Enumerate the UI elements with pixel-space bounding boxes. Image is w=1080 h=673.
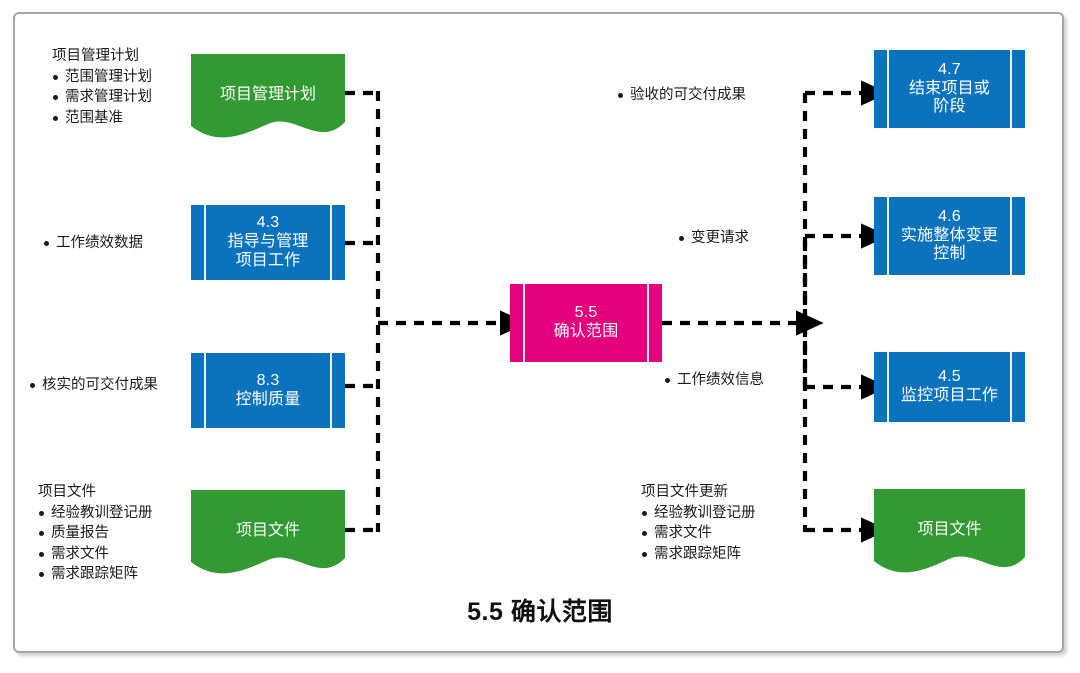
output-text-block-project-documents-updates: 项目文件更新 经验教训登记册 需求文件 需求跟踪矩阵 bbox=[641, 482, 756, 564]
process-node-4-3[interactable]: 4.3指导与管理 项目工作 bbox=[191, 205, 345, 280]
process-number: 8.3 bbox=[257, 372, 280, 389]
list-item: 范围管理计划 bbox=[52, 67, 152, 88]
process-label: 5.5确认范围 bbox=[538, 304, 635, 342]
process-rule-right bbox=[1010, 50, 1012, 128]
output-bullet-list: 变更请求 bbox=[678, 228, 749, 249]
process-name: 确认范围 bbox=[554, 323, 619, 340]
process-name: 控制质量 bbox=[236, 391, 301, 408]
input-text-block-verified-deliverables: 核实的可交付成果 bbox=[29, 375, 158, 396]
diagram-caption: 5.5 确认范围 bbox=[0, 592, 1080, 628]
document-label: 项目文件 bbox=[191, 490, 345, 540]
list-item: 范围基准 bbox=[52, 108, 152, 129]
process-rule-right bbox=[330, 353, 332, 428]
process-rule-left bbox=[887, 50, 889, 128]
list-item: 验收的可交付成果 bbox=[617, 85, 746, 106]
list-item: 需求跟踪矩阵 bbox=[641, 544, 756, 565]
process-label: 4.3指导与管理 项目工作 bbox=[211, 214, 324, 271]
document-node-project-documents-right[interactable]: 项目文件 bbox=[874, 489, 1025, 575]
input-bullet-list: 核实的可交付成果 bbox=[29, 375, 158, 396]
diagram-canvas: 项目管理计划 范围管理计划 需求管理计划 范围基准 工作绩效数据 核实的可交付成… bbox=[0, 0, 1080, 673]
list-item: 经验教训登记册 bbox=[38, 503, 153, 524]
input-bullet-list: 范围管理计划 需求管理计划 范围基准 bbox=[52, 67, 152, 129]
document-label: 项目管理计划 bbox=[191, 54, 345, 104]
document-label: 项目文件 bbox=[874, 489, 1025, 539]
process-node-4-7[interactable]: 4.7结束项目或 阶段 bbox=[874, 50, 1025, 128]
process-number: 4.6 bbox=[938, 208, 961, 225]
process-name: 实施整体变更 控制 bbox=[901, 227, 998, 263]
list-item: 经验教训登记册 bbox=[641, 503, 756, 524]
output-bullet-list: 经验教训登记册 需求文件 需求跟踪矩阵 bbox=[641, 503, 756, 565]
input-text-block-work-performance-data: 工作绩效数据 bbox=[43, 233, 143, 254]
process-node-5-5-confirm-scope[interactable]: 5.5确认范围 bbox=[510, 284, 662, 362]
process-rule-left bbox=[204, 353, 206, 428]
list-item: 需求跟踪矩阵 bbox=[38, 564, 153, 585]
output-text-block-change-requests: 变更请求 bbox=[678, 228, 749, 249]
process-label: 4.6实施整体变更 控制 bbox=[885, 208, 1014, 265]
process-rule-left bbox=[523, 284, 525, 362]
document-node-project-management-plan[interactable]: 项目管理计划 bbox=[191, 54, 345, 140]
list-item: 工作绩效信息 bbox=[664, 370, 764, 391]
input-text-block-project-management-plan: 项目管理计划 范围管理计划 需求管理计划 范围基准 bbox=[52, 46, 152, 128]
list-item: 质量报告 bbox=[38, 523, 153, 544]
process-number: 4.5 bbox=[938, 368, 961, 385]
process-node-4-6[interactable]: 4.6实施整体变更 控制 bbox=[874, 197, 1025, 275]
process-label: 4.5监控项目工作 bbox=[885, 368, 1014, 406]
process-number: 4.7 bbox=[938, 61, 961, 78]
list-item: 需求管理计划 bbox=[52, 87, 152, 108]
process-rule-left bbox=[204, 205, 206, 280]
input-header: 项目文件 bbox=[38, 482, 153, 503]
output-header: 项目文件更新 bbox=[641, 482, 756, 503]
input-header: 项目管理计划 bbox=[52, 46, 152, 67]
process-node-4-5[interactable]: 4.5监控项目工作 bbox=[874, 352, 1025, 422]
output-text-block-accepted-deliverables: 验收的可交付成果 bbox=[617, 85, 746, 106]
output-text-block-work-performance-information: 工作绩效信息 bbox=[664, 370, 764, 391]
process-name: 监控项目工作 bbox=[901, 387, 998, 404]
input-text-block-project-documents: 项目文件 经验教训登记册 质量报告 需求文件 需求跟踪矩阵 bbox=[38, 482, 153, 585]
input-bullet-list: 经验教训登记册 质量报告 需求文件 需求跟踪矩阵 bbox=[38, 503, 153, 585]
process-label: 8.3控制质量 bbox=[220, 372, 317, 410]
process-rule-right bbox=[330, 205, 332, 280]
document-node-project-documents-left[interactable]: 项目文件 bbox=[191, 490, 345, 576]
process-node-8-3[interactable]: 8.3控制质量 bbox=[191, 353, 345, 428]
process-name: 指导与管理 项目工作 bbox=[227, 233, 308, 269]
list-item: 工作绩效数据 bbox=[43, 233, 143, 254]
output-bullet-list: 工作绩效信息 bbox=[664, 370, 764, 391]
process-number: 5.5 bbox=[575, 304, 598, 321]
output-bullet-list: 验收的可交付成果 bbox=[617, 85, 746, 106]
input-bullet-list: 工作绩效数据 bbox=[43, 233, 143, 254]
list-item: 需求文件 bbox=[641, 523, 756, 544]
process-label: 4.7结束项目或 阶段 bbox=[893, 61, 1006, 118]
process-number: 4.3 bbox=[257, 214, 280, 231]
list-item: 变更请求 bbox=[678, 228, 749, 249]
list-item: 核实的可交付成果 bbox=[29, 375, 158, 396]
list-item: 需求文件 bbox=[38, 544, 153, 565]
process-rule-right bbox=[647, 284, 649, 362]
process-name: 结束项目或 阶段 bbox=[909, 80, 990, 116]
